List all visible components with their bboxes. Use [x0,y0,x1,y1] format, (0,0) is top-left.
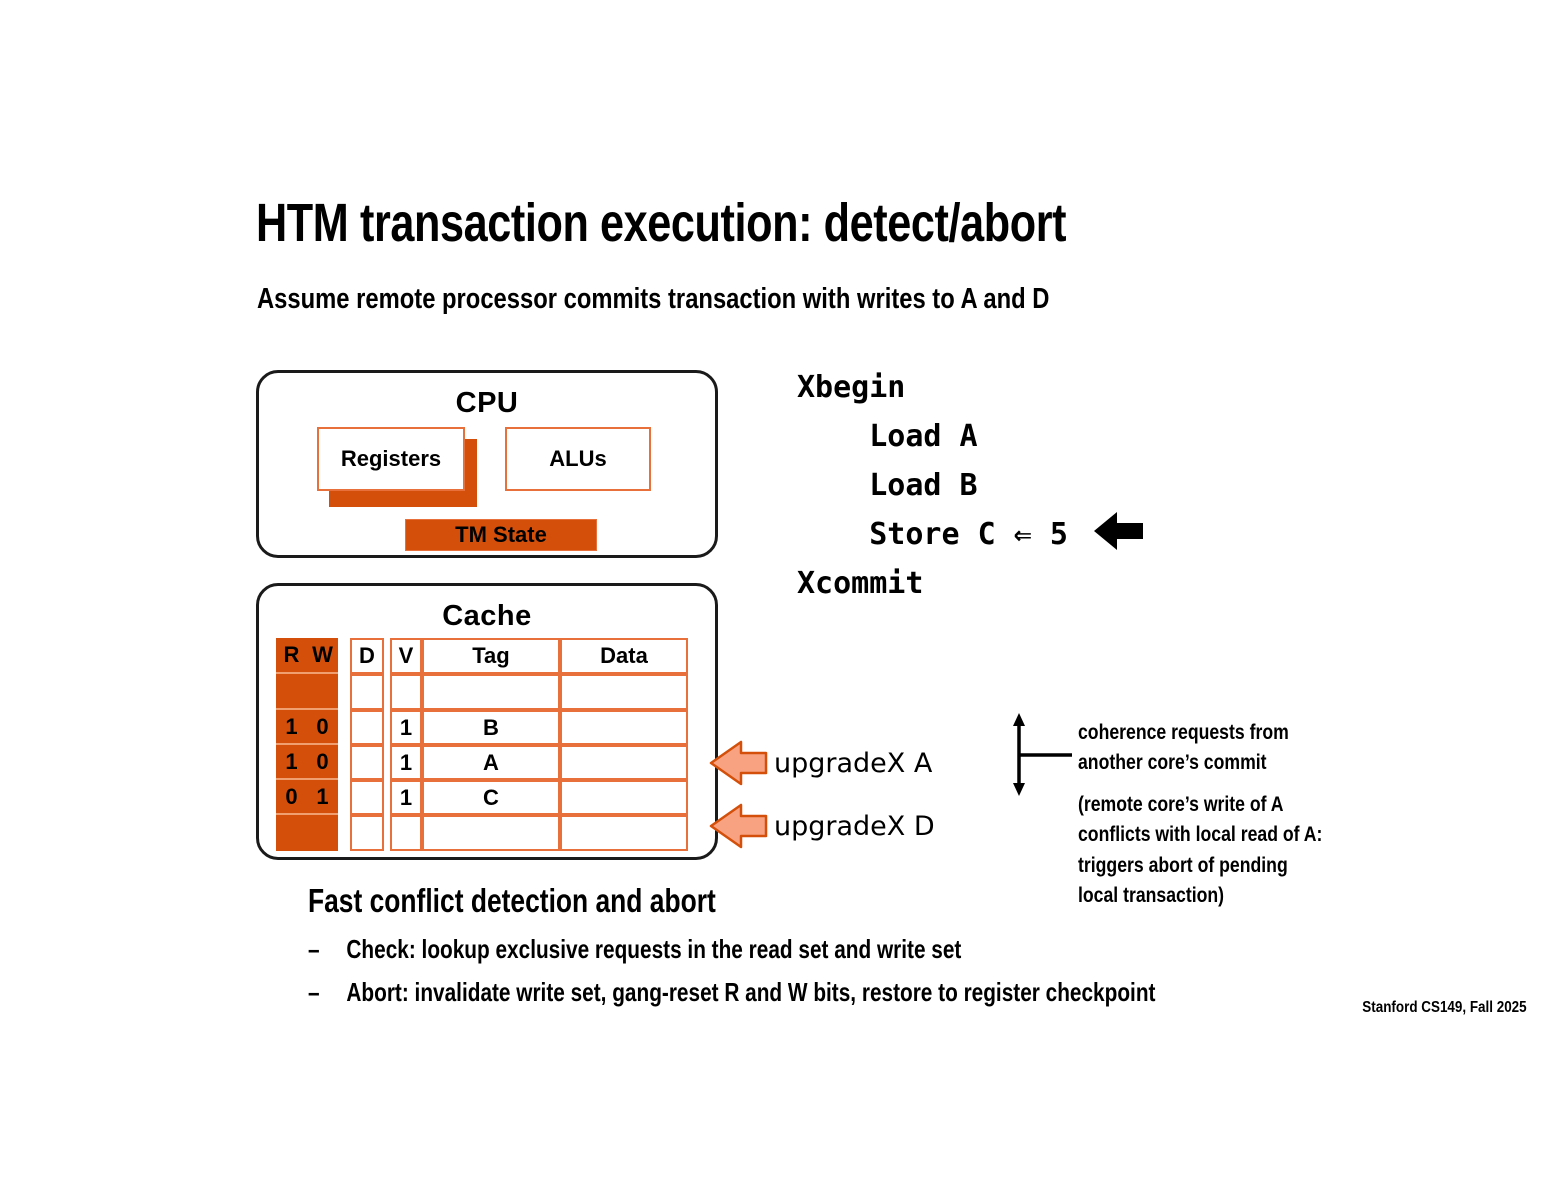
alus-box: ALUs [505,427,651,491]
table-header-row: R W [276,638,338,674]
cell-tag [422,674,560,710]
column-header-w: W [307,638,338,674]
coherence-note-line2: another core’s commit [1078,748,1289,778]
cell-w [307,674,338,710]
page-title: HTM transaction execution: detect/abort [256,192,1066,254]
conflict-note-line4: local transaction) [1078,881,1322,911]
upgradex-a-label: upgradeX A [774,748,932,779]
cell-v [390,815,422,851]
table-header-row: D [350,638,384,674]
table-row [276,674,338,710]
table-row [350,780,384,815]
summary-bullet-2-text: Abort: invalidate write set, gang-reset … [346,977,1155,1007]
cell-w: 0 [307,745,338,780]
cache-main-table: V Tag Data 1 B 1 A 1 C [390,638,688,851]
conflict-note-line2: conflicts with local read of A: [1078,820,1322,850]
cell-d [350,780,384,815]
page-subtitle: Assume remote processor commits transact… [257,283,1049,316]
conflict-note-line1: (remote core’s write of A [1078,790,1322,820]
cache-box-title: Cache [259,600,715,633]
slide-canvas: HTM transaction execution: detect/abort … [0,0,1553,1200]
summary-bullet-2: –Abort: invalidate write set, gang-reset… [308,977,1155,1008]
table-row [350,710,384,745]
cell-r: 1 [276,745,307,780]
code-line-store-c: Store C ⇐ 5 [797,517,1068,552]
upgradex-a-arrow-icon [711,742,766,784]
cell-d [350,745,384,780]
slide-footer: Stanford CS149, Fall 2025 [1363,999,1527,1017]
cell-v [390,674,422,710]
cell-r [276,815,307,851]
cell-data [560,674,688,710]
coherence-bracket-icon [1013,713,1072,796]
cell-tag: A [422,745,560,780]
summary-bullet-1-text: Check: lookup exclusive requests in the … [346,934,961,964]
cell-w [307,815,338,851]
bullet-dash-icon: – [308,977,346,1008]
table-row [350,745,384,780]
coherence-note-line1: coherence requests from [1078,718,1289,748]
registers-box: Registers [317,427,465,491]
cell-r: 0 [276,780,307,815]
cell-w: 1 [307,780,338,815]
tm-state-box: TM State [405,519,597,551]
cell-r [276,674,307,710]
summary-heading: Fast conflict detection and abort [308,882,716,920]
cell-d [350,674,384,710]
conflict-note: (remote core’s write of A conflicts with… [1078,790,1322,912]
cell-d [350,710,384,745]
column-header-r: R [276,638,307,674]
code-line-xcommit: Xcommit [797,566,923,601]
table-row [390,674,688,710]
column-header-data: Data [560,638,688,674]
table-row [276,815,338,851]
cell-v: 1 [390,780,422,815]
table-header-row: V Tag Data [390,638,688,674]
table-row: 1 B [390,710,688,745]
upgradex-d-arrow-icon [711,805,766,847]
cpu-box: CPU Registers ALUs TM State [256,370,718,558]
cell-v: 1 [390,745,422,780]
table-row: 1 0 [276,710,338,745]
table-row: 1 C [390,780,688,815]
cell-tag: B [422,710,560,745]
cell-data [560,745,688,780]
bullet-dash-icon: – [308,934,346,965]
table-row [390,815,688,851]
table-row: 1 A [390,745,688,780]
coherence-note: coherence requests from another core’s c… [1078,718,1289,779]
table-row: 1 0 [276,745,338,780]
table-row [350,815,384,851]
cell-w: 0 [307,710,338,745]
cell-data [560,815,688,851]
table-row: 0 1 [276,780,338,815]
column-header-d: D [350,638,384,674]
cell-tag [422,815,560,851]
summary-bullet-1: –Check: lookup exclusive requests in the… [308,934,961,965]
cache-rw-table: R W 1 0 1 0 0 1 [276,638,338,851]
cell-data [560,710,688,745]
code-line-xbegin: Xbegin [797,370,905,405]
cell-r: 1 [276,710,307,745]
conflict-note-line3: triggers abort of pending [1078,851,1322,881]
cell-data [560,780,688,815]
cpu-box-title: CPU [259,387,715,420]
table-row [350,674,384,710]
cell-v: 1 [390,710,422,745]
cell-tag: C [422,780,560,815]
column-header-v: V [390,638,422,674]
cache-dirty-table: D [350,638,384,851]
store-pointer-arrow-icon [1094,512,1143,550]
upgradex-d-label: upgradeX D [774,811,935,842]
column-header-tag: Tag [422,638,560,674]
cell-d [350,815,384,851]
code-line-load-a: Load A [797,419,978,454]
arrow-overlay [0,0,1553,1200]
code-line-load-b: Load B [797,468,978,503]
